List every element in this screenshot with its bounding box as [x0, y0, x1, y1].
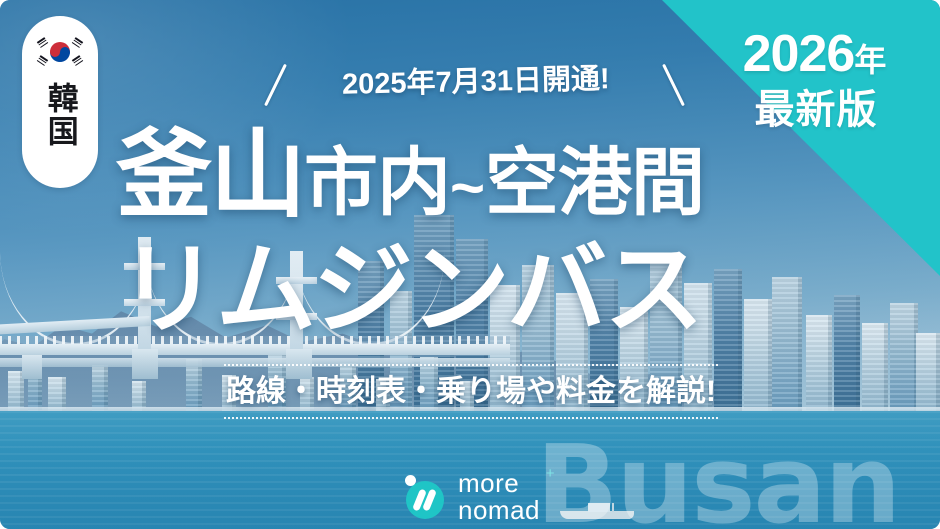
headline-block: 2025年7月31日開通! 釜山市内~空港間 リムジンバス 路線・時刻表・乗り場… [0, 0, 940, 529]
logo-line-1: more [458, 468, 519, 498]
more-nomad-logo: more+ nomad [404, 470, 540, 523]
title-line-2: リムジンバス [0, 240, 940, 340]
kicker-text: 2025年7月31日開通! [342, 55, 610, 103]
more-nomad-mark-icon [404, 475, 448, 519]
subtitle-divider-bottom [224, 417, 718, 419]
banner-root: Busan 2026年 最新版 韓国 2025年7月31日開通! 釜山市内~空港… [0, 0, 940, 529]
title-line-1: 釜山市内~空港間 [0, 128, 940, 224]
more-nomad-wordmark: more+ nomad [458, 470, 540, 523]
subtitle-text: 路線・時刻表・乗り場や料金を解説! [224, 366, 718, 417]
title-tilde: ~ [450, 154, 485, 221]
kicker: 2025年7月31日開通! [256, 48, 696, 110]
title-city: 釜山 [116, 122, 304, 229]
title-downtown: 市内 [304, 141, 450, 224]
title-airport: 空港間 [485, 141, 704, 224]
subtitle-block: 路線・時刻表・乗り場や料金を解説! [224, 364, 718, 419]
logo-line-2: nomad [458, 497, 540, 524]
logo-plus-icon: + [546, 466, 555, 481]
